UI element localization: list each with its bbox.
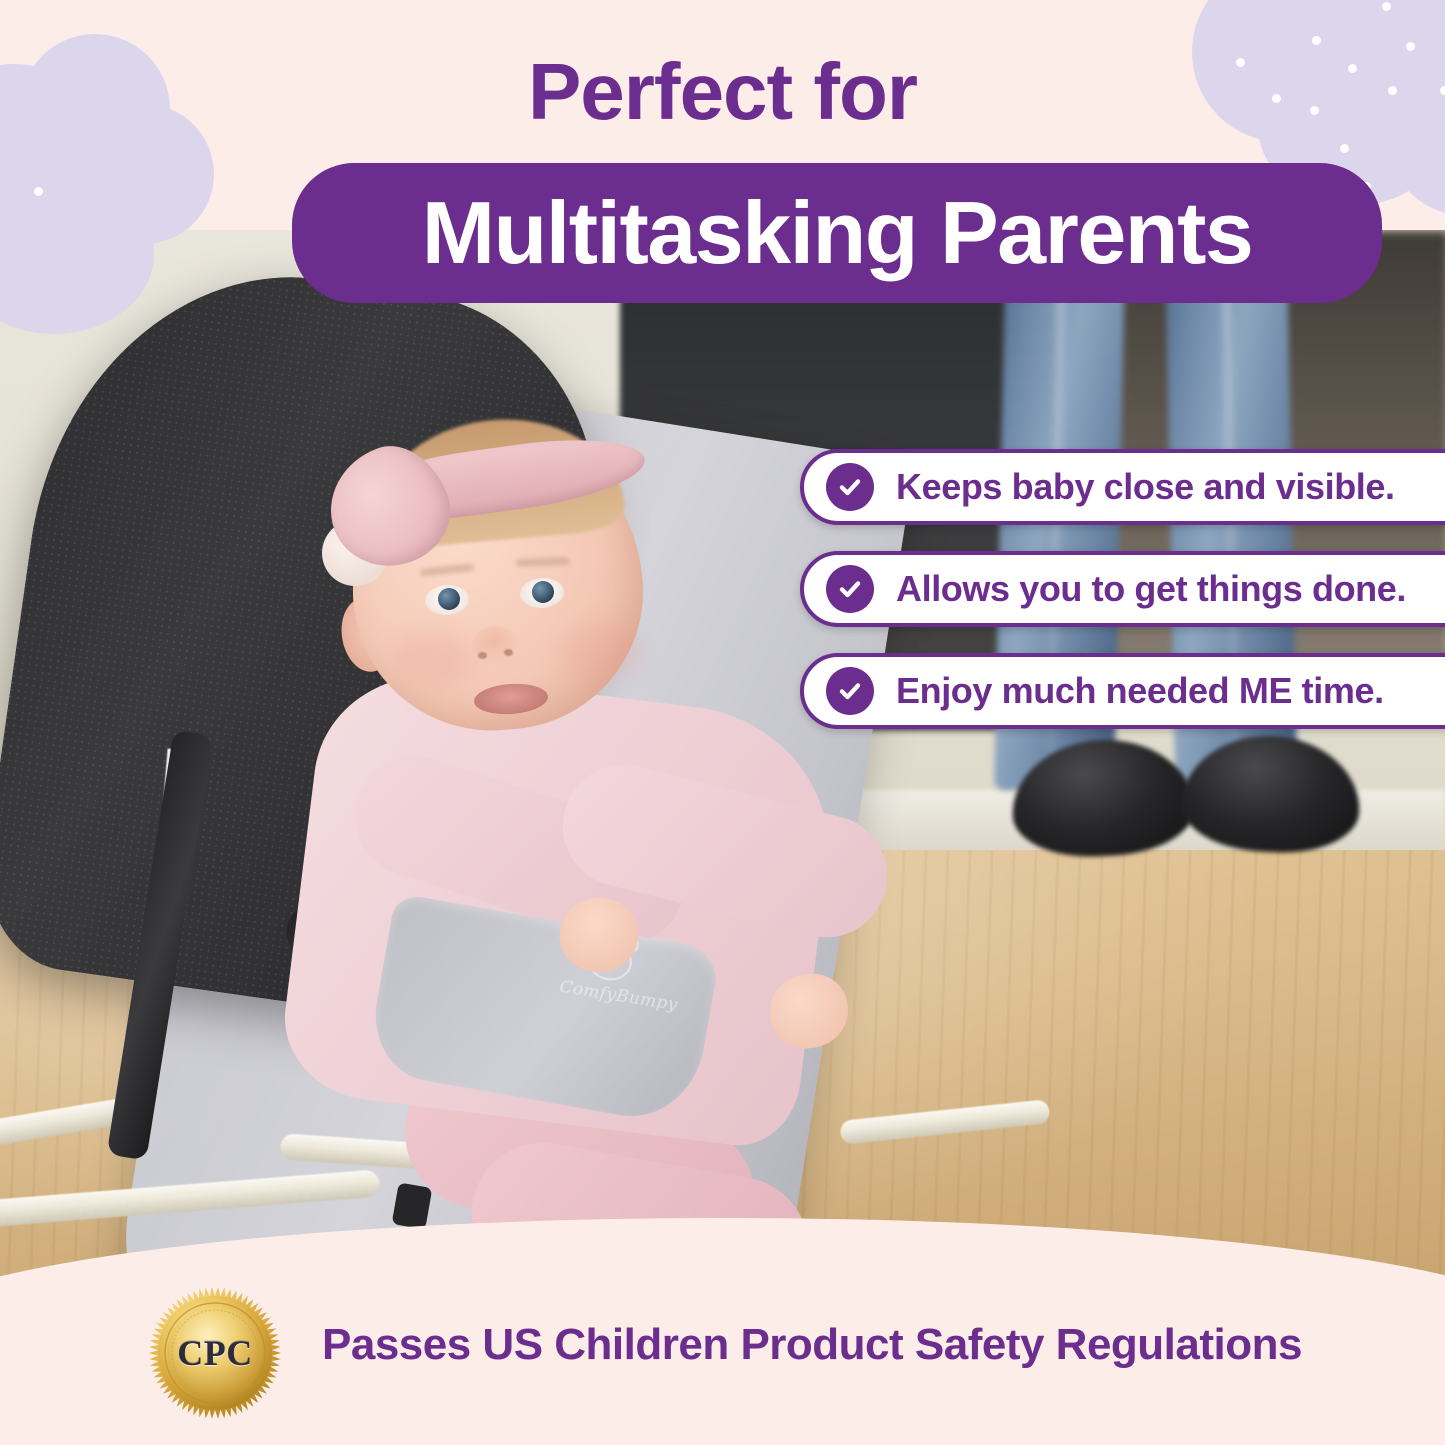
baby-cheek	[392, 630, 472, 688]
baby-cheek	[560, 622, 640, 680]
certification-text: Passes US Children Product Safety Regula…	[322, 1320, 1372, 1370]
feature-pill: Keeps baby close and visible.	[800, 449, 1445, 525]
check-circle-icon	[826, 667, 874, 715]
baby-iris	[532, 581, 554, 603]
feature-pill-label: Keeps baby close and visible.	[896, 466, 1395, 508]
feature-pill-label: Enjoy much needed ME time.	[896, 670, 1384, 712]
cpc-gold-seal-icon: CPC	[145, 1282, 285, 1424]
headline-line-2: Multitasking Parents	[422, 189, 1253, 277]
brand-name: ComfyBumpy	[548, 975, 689, 1017]
check-circle-icon	[826, 463, 874, 511]
feature-pill: Allows you to get things done.	[800, 551, 1445, 627]
baby-figure: ComfyBumpy	[0, 230, 1445, 1290]
baby-nostril	[478, 652, 487, 659]
marketing-graphic: ComfyBumpy	[0, 0, 1445, 1445]
headline-banner: Multitasking Parents	[292, 163, 1382, 303]
headline-line-1: Perfect for	[0, 52, 1445, 132]
check-circle-icon	[826, 565, 874, 613]
feature-pill: Enjoy much needed ME time.	[800, 653, 1445, 729]
baby-nostril	[504, 649, 513, 656]
cpc-seal-label: CPC	[145, 1282, 285, 1424]
baby-iris	[438, 588, 460, 610]
product-photo: ComfyBumpy	[0, 230, 1445, 1290]
feature-pill-label: Allows you to get things done.	[896, 568, 1406, 610]
